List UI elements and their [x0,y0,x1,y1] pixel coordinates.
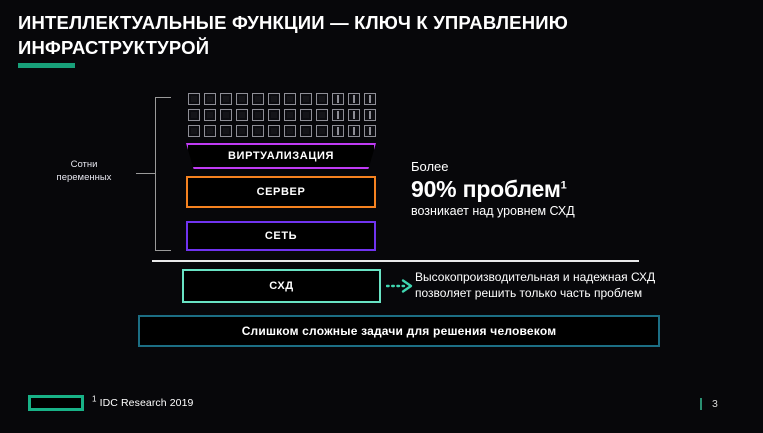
stat-prefix: Более [411,158,661,175]
server-node-icon [300,125,312,137]
server-node-icon [284,109,296,121]
rack-node-icon [348,93,360,105]
hpe-logo [28,395,84,411]
stat-callout: Более 90% проблем1 возникает над уровнем… [411,158,661,220]
server-node-icon [316,125,328,137]
title-block: ИНТЕЛЛЕКТУАЛЬНЫЕ ФУНКЦИИ — КЛЮЧ К УПРАВЛ… [18,10,718,60]
server-node-icon [188,109,200,121]
stat-footnote-marker: 1 [561,179,567,191]
server-node-icon [220,125,232,137]
rack-node-icon [348,109,360,121]
hundreds-of-variables-label: Сотни переменных [34,158,134,184]
page-number-separator [700,398,702,410]
page-number: 3 [712,398,718,410]
layer-network[interactable]: СЕТЬ [186,221,376,251]
layer-network-label: СЕТЬ [265,230,297,242]
stat-headline: 90% проблем1 [411,175,661,203]
layer-server[interactable]: СЕРВЕР [186,176,376,208]
server-node-icon [204,125,216,137]
server-node-icon [284,125,296,137]
server-node-icon [268,109,280,121]
rack-node-icon [364,93,376,105]
server-node-icon [300,93,312,105]
server-node-icon [220,109,232,121]
server-node-icon [252,109,264,121]
server-node-icon [284,93,296,105]
rack-node-icon [364,109,376,121]
page-title: ИНТЕЛЛЕКТУАЛЬНЫЕ ФУНКЦИИ — КЛЮЧ К УПРАВЛ… [18,10,718,60]
scope-bracket-tick [136,173,156,174]
title-accent-bar [18,63,75,68]
complex-tasks-banner[interactable]: Слишком сложные задачи для решения челов… [138,315,660,347]
server-node-icon [316,93,328,105]
server-node-icon [268,93,280,105]
footnote: 1 IDC Research 2019 [92,397,194,409]
rack-node-icon [364,125,376,137]
server-node-icon [252,93,264,105]
server-node-icon [236,109,248,121]
stat-subtext: возникает над уровнем СХД [411,203,661,220]
storage-note-text: Высокопроизводительная и надежная СХД по… [415,269,685,301]
rack-node-icon [332,109,344,121]
scope-bracket [155,97,171,251]
slide-canvas: ИНТЕЛЛЕКТУАЛЬНЫЕ ФУНКЦИИ — КЛЮЧ К УПРАВЛ… [0,0,763,433]
server-node-icon [236,125,248,137]
layer-storage[interactable]: СХД [182,269,381,303]
complex-tasks-banner-label: Слишком сложные задачи для решения челов… [242,324,557,338]
server-node-icon [300,109,312,121]
footnote-text: IDC Research 2019 [97,397,194,409]
server-node-icon [316,109,328,121]
server-node-icon [188,125,200,137]
rack-node-icon [332,125,344,137]
server-node-icon [236,93,248,105]
server-node-grid [188,93,380,141]
server-node-icon [220,93,232,105]
server-node-icon [252,125,264,137]
rack-node-icon [332,93,344,105]
server-node-icon [204,109,216,121]
layer-storage-label: СХД [269,280,294,292]
stat-headline-text: 90% проблем [411,176,561,202]
server-node-icon [188,93,200,105]
layer-server-label: СЕРВЕР [257,186,306,198]
stack-divider-line [152,260,639,262]
server-node-icon [268,125,280,137]
rack-node-icon [348,125,360,137]
layer-virtualization[interactable] [186,143,376,169]
server-node-icon [204,93,216,105]
dotted-arrow-right-icon [386,278,416,294]
